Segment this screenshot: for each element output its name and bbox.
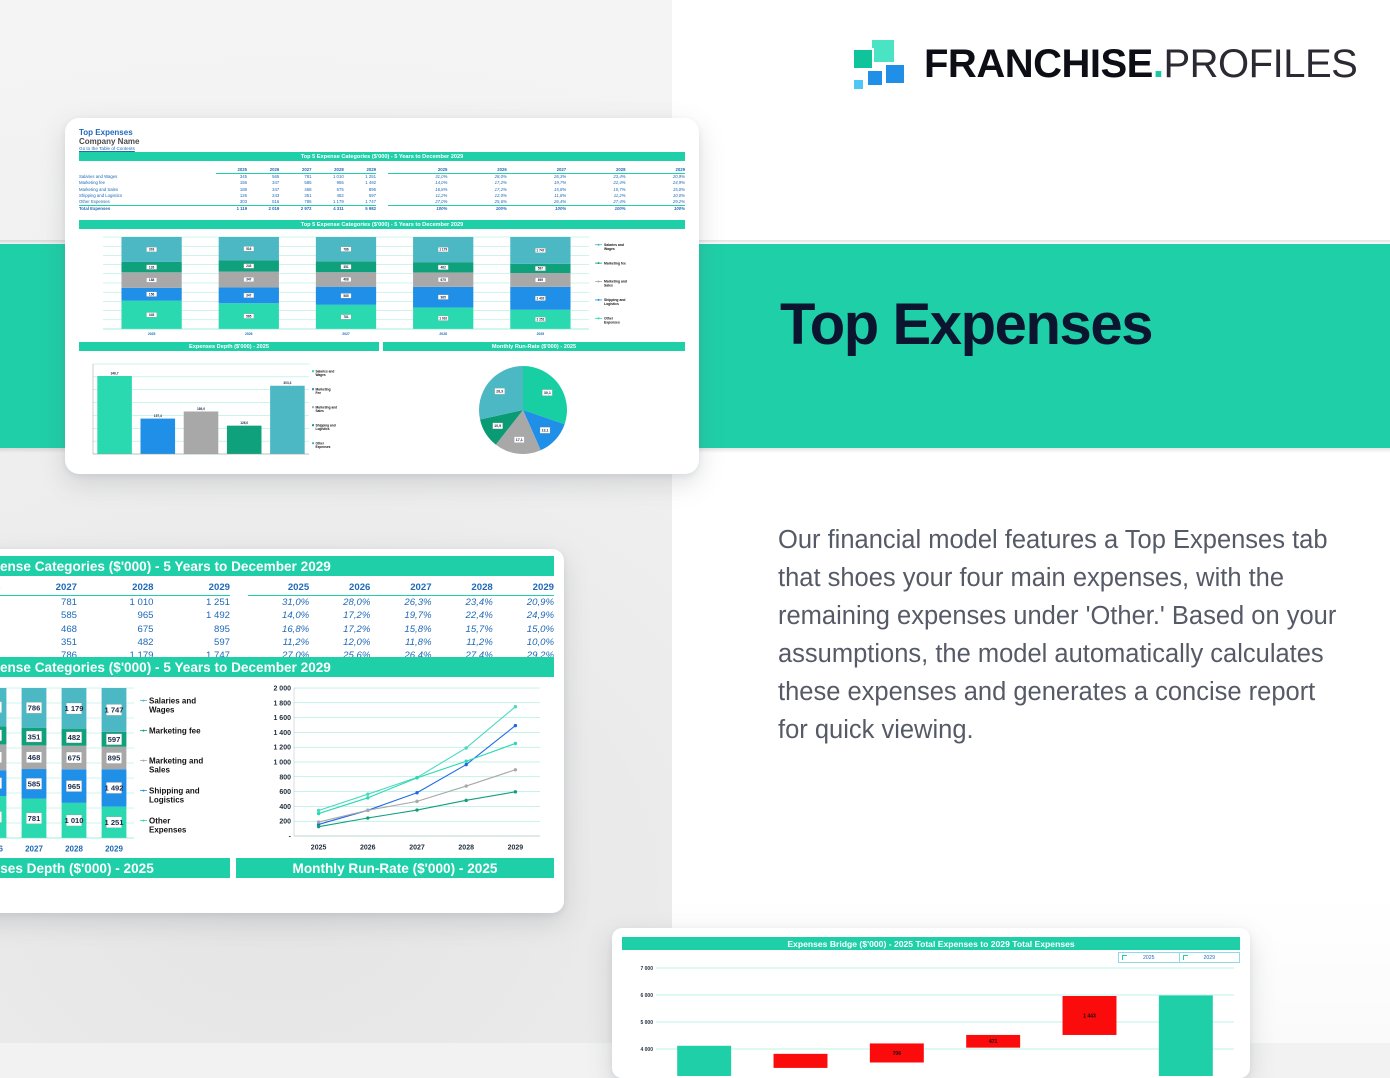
- svg-text:7 000: 7 000: [640, 966, 653, 972]
- svg-text:303,3: 303,3: [283, 381, 291, 385]
- svg-text:Wages: Wages: [316, 373, 326, 377]
- cell: 482: [77, 636, 154, 649]
- column-header: 2027: [370, 581, 431, 596]
- svg-text:1 600: 1 600: [273, 715, 291, 722]
- cell: 351: [1, 636, 78, 649]
- cell: 345: [216, 173, 247, 180]
- svg-text:188: 188: [149, 278, 155, 282]
- column-header: 2028: [77, 581, 154, 596]
- cell: 1 010: [312, 173, 344, 180]
- legend-item[interactable]: 2029: [1180, 953, 1240, 962]
- cell: 100%: [447, 205, 506, 212]
- svg-text:28,3: 28,3: [496, 390, 503, 394]
- svg-text:5 000: 5 000: [640, 1020, 653, 1026]
- table-row: 31,0%28,0%26,3%23,4%20,9%: [248, 596, 554, 610]
- card1-tables: 20252026202720282029Salaries and Wages34…: [79, 166, 685, 212]
- svg-text:2025: 2025: [148, 332, 156, 336]
- legend-item[interactable]: 2025: [1119, 953, 1180, 962]
- svg-text:30,1: 30,1: [544, 391, 551, 395]
- cell: 25,6%: [447, 198, 506, 205]
- table-row: 5657811 0101 251: [0, 596, 230, 610]
- cell: 1 119: [216, 205, 247, 212]
- cell: 19,7%: [370, 609, 431, 622]
- svg-text:706: 706: [893, 1051, 902, 1057]
- svg-text:Fee: Fee: [316, 391, 322, 395]
- column-header: 2027: [507, 166, 566, 173]
- cell: 597: [154, 636, 231, 649]
- column-header: 2028: [566, 166, 625, 173]
- cell: 100%: [388, 205, 447, 212]
- column-header: 2027: [1, 581, 78, 596]
- card1-stacked-bar-chart: 3451561881263032025565347347243516202678…: [79, 231, 685, 341]
- svg-text:-: -: [289, 833, 292, 840]
- svg-text:2026: 2026: [360, 844, 376, 851]
- svg-text:468: 468: [343, 278, 349, 282]
- cell: 965: [77, 609, 154, 622]
- svg-text:471: 471: [989, 1039, 998, 1045]
- brand-wordmark: FRANCHISE.PROFILES: [924, 44, 1357, 84]
- svg-text:351: 351: [343, 265, 349, 269]
- svg-text:2029: 2029: [508, 844, 524, 851]
- cell: 15,7%: [432, 622, 493, 635]
- svg-text:Marketing fee: Marketing fee: [604, 261, 626, 265]
- table-percent: 2025202620272028202931,0%28,0%26,3%23,4%…: [388, 166, 685, 212]
- card1-table-values: 20252026202720282029Salaries and Wages34…: [79, 166, 376, 212]
- cell: 2 972: [279, 205, 311, 212]
- svg-text:Sales: Sales: [604, 284, 613, 288]
- svg-text:157,4: 157,4: [154, 414, 162, 418]
- logo-text-dot: .: [1153, 42, 1164, 86]
- card2-table-percent: 2025202620272028202931,0%28,0%26,3%23,4%…: [248, 581, 554, 655]
- table-total-row: 100%100%100%100%100%: [388, 205, 685, 212]
- row-label: Total Expenses: [79, 205, 216, 212]
- table-row: 243351482597: [0, 636, 230, 649]
- svg-text:1 010: 1 010: [439, 316, 447, 320]
- svg-text:2029: 2029: [537, 332, 545, 336]
- cell: 1 492: [154, 609, 231, 622]
- svg-text:786: 786: [343, 247, 349, 251]
- svg-text:1 251: 1 251: [536, 318, 544, 322]
- cell: 31,0%: [248, 596, 309, 610]
- cell: 516: [247, 198, 279, 205]
- card2-charts: 3451561881263032025565347347243516202678…: [0, 682, 554, 854]
- cell: 26,3%: [370, 596, 431, 610]
- cell: 10,0%: [493, 636, 554, 649]
- cell: 14,0%: [248, 609, 309, 622]
- cell: 1 251: [154, 596, 231, 610]
- row-label: Other Expenses: [79, 198, 216, 205]
- cell: 23,4%: [432, 596, 493, 610]
- svg-text:126: 126: [149, 265, 155, 269]
- cell: 17,2%: [309, 622, 370, 635]
- card3-band-title: Expenses Bridge ($'000) - 2025 Total Exp…: [622, 937, 1240, 950]
- column-header: 2029: [154, 581, 231, 596]
- card3-legend[interactable]: 20252029: [1118, 952, 1240, 963]
- card1-tab-title: Top Expenses: [79, 128, 685, 137]
- cell: 31,0%: [388, 173, 447, 180]
- svg-text:156: 156: [149, 292, 155, 296]
- cell: 100%: [626, 205, 685, 212]
- column-header: 2025: [388, 166, 447, 173]
- card1-band-categories: Top 5 Expense Categories ($'000) - 5 Yea…: [79, 152, 685, 161]
- cell: 781: [1, 596, 78, 610]
- cell: 11,8%: [370, 636, 431, 649]
- svg-text:597: 597: [538, 267, 544, 271]
- svg-text:585: 585: [343, 294, 349, 298]
- card1-band-runrate: Monthly Run-Rate ($'000) - 2025: [383, 342, 685, 351]
- card1-company-name: Company Name: [79, 137, 685, 146]
- table-row: Other Expenses3035167861 1791 747: [79, 198, 376, 205]
- svg-text:17,1: 17,1: [516, 438, 523, 442]
- card3-waterfall-chart: 4 0005 0006 0007 0007064711 443: [622, 964, 1240, 1076]
- cell: 100%: [566, 205, 625, 212]
- svg-text:2028: 2028: [439, 332, 447, 336]
- card2-band-categories: Top 5 Expense Categories ($'000) - 5 Yea…: [0, 556, 554, 576]
- svg-text:4 000: 4 000: [640, 1047, 653, 1053]
- svg-text:347: 347: [246, 293, 252, 297]
- svg-text:189,0: 189,0: [197, 407, 205, 411]
- svg-text:1 747: 1 747: [536, 249, 544, 253]
- svg-text:6 000: 6 000: [640, 993, 653, 999]
- card2-band-runrate: Monthly Run-Rate ($'000) - 2025: [236, 858, 554, 878]
- svg-text:2026: 2026: [245, 332, 253, 336]
- svg-text:781: 781: [343, 315, 349, 319]
- cell: 23,4%: [566, 173, 625, 180]
- svg-text:482: 482: [441, 265, 447, 269]
- svg-text:565: 565: [246, 314, 252, 318]
- cell: 1 251: [344, 173, 376, 180]
- cell: 468: [1, 622, 78, 635]
- cell: 5 982: [344, 205, 376, 212]
- cell: 4 311: [312, 205, 344, 212]
- table-row: 31,0%28,0%26,3%23,4%20,9%: [388, 173, 685, 180]
- svg-text:2027: 2027: [342, 332, 350, 336]
- card1-table-percent: 2025202620272028202931,0%28,0%26,3%23,4%…: [388, 166, 685, 212]
- cell: 28,0%: [447, 173, 506, 180]
- body-paragraph: Our financial model features a Top Expen…: [778, 521, 1344, 749]
- cell: 895: [154, 622, 231, 635]
- svg-text:243: 243: [246, 264, 252, 268]
- column-header: 2029: [626, 166, 685, 173]
- cell: 786: [279, 198, 311, 205]
- cell: 27,4%: [566, 198, 625, 205]
- svg-text:Sales: Sales: [316, 409, 325, 413]
- svg-text:1 400: 1 400: [273, 730, 291, 737]
- svg-text:800: 800: [279, 774, 291, 781]
- svg-text:Expenses: Expenses: [604, 320, 620, 324]
- column-header: 2025: [216, 166, 247, 173]
- svg-text:600: 600: [279, 789, 291, 796]
- table-row: 3475859651 492: [0, 609, 230, 622]
- column-header: 2025: [248, 581, 309, 596]
- cell: 2 019: [247, 205, 279, 212]
- svg-text:1 200: 1 200: [273, 745, 291, 752]
- cell: 28,0%: [309, 596, 370, 610]
- cell: 100%: [507, 205, 566, 212]
- logo-text-bold: FRANCHISE: [924, 42, 1153, 86]
- svg-text:2027: 2027: [409, 844, 425, 851]
- cell: 675: [77, 622, 154, 635]
- svg-text:675: 675: [441, 278, 447, 282]
- table-total-row: Total Expenses1 1192 0192 9724 3115 982: [79, 205, 376, 212]
- cell: 22,4%: [432, 609, 493, 622]
- svg-text:895: 895: [538, 278, 544, 282]
- column-header: 2026: [309, 581, 370, 596]
- cell: 565: [247, 173, 279, 180]
- svg-text:200: 200: [279, 819, 291, 826]
- svg-text:2025: 2025: [311, 844, 327, 851]
- column-header: 2028: [312, 166, 344, 173]
- card1-band-chart: Top 5 Expense Categories ($'000) - 5 Yea…: [79, 220, 685, 229]
- cell: 347: [0, 609, 1, 622]
- svg-text:1 800: 1 800: [273, 700, 291, 707]
- svg-text:1 179: 1 179: [439, 248, 447, 252]
- column-header: 2027: [279, 166, 311, 173]
- table-row: 11,2%12,0%11,8%11,2%10,0%: [248, 636, 554, 649]
- table-row: 16,8%17,2%15,8%15,7%15,0%: [248, 622, 554, 635]
- cell: 17,2%: [309, 609, 370, 622]
- brand-logo: FRANCHISE.PROFILES: [852, 36, 1357, 92]
- cell: 1 179: [312, 198, 344, 205]
- svg-text:1 492: 1 492: [536, 296, 544, 300]
- svg-text:126,0: 126,0: [240, 421, 248, 425]
- svg-text:965: 965: [441, 295, 447, 299]
- cell: 26,3%: [507, 173, 566, 180]
- cell: 585: [1, 609, 78, 622]
- cell: 347: [0, 622, 1, 635]
- svg-text:346,7: 346,7: [111, 371, 119, 375]
- table-row: 347468675895: [0, 622, 230, 635]
- svg-text:Logistics: Logistics: [316, 427, 330, 431]
- screenshot-card-bottom-left[interactable]: Top 5 Expense Categories ($'000) - 5 Yea…: [0, 549, 564, 913]
- column-header: 2026: [247, 166, 279, 173]
- cell: 16,8%: [248, 622, 309, 635]
- svg-text:516: 516: [246, 247, 252, 251]
- cell: 781: [279, 173, 311, 180]
- cell: 1 010: [77, 596, 154, 610]
- row-label: Salaries and Wages: [79, 173, 216, 180]
- cell: 24,9%: [493, 609, 554, 622]
- svg-text:13,1: 13,1: [542, 429, 549, 433]
- cell: 11,2%: [432, 636, 493, 649]
- table-row: Salaries and Wages3455657811 0101 251: [79, 173, 376, 180]
- cell: 15,0%: [493, 622, 554, 635]
- cell: 1 747: [344, 198, 376, 205]
- svg-text:400: 400: [279, 804, 291, 811]
- column-header: 2029: [493, 581, 554, 596]
- svg-text:1 000: 1 000: [273, 759, 291, 766]
- card2-table-values: 20262027202820295657811 0101 25134758596…: [0, 581, 230, 655]
- svg-text:10,9: 10,9: [494, 424, 501, 428]
- card1-toc-link[interactable]: Go to the Table of Contents: [79, 146, 685, 151]
- card2-band-depth: ses Depth ($'000) - 2025: [0, 858, 230, 878]
- svg-text:Wages: Wages: [604, 247, 615, 251]
- cell: 20,9%: [626, 173, 685, 180]
- svg-text:2028: 2028: [458, 844, 474, 851]
- svg-text:347: 347: [246, 278, 252, 282]
- svg-text:1 443: 1 443: [1083, 1013, 1096, 1019]
- table-row: 27,0%25,6%26,4%27,4%29,2%: [388, 198, 685, 205]
- card1-band-depth: Expenses Depth ($'000) - 2025: [79, 342, 379, 351]
- table-values: 20252026202720282029Salaries and Wages34…: [79, 166, 376, 212]
- cell: 565: [0, 596, 1, 610]
- screenshot-card-bottom-right[interactable]: Expenses Bridge ($'000) - 2025 Total Exp…: [612, 928, 1250, 1078]
- cell: 27,0%: [388, 198, 447, 205]
- svg-text:303: 303: [149, 248, 155, 252]
- logo-text-thin: PROFILES: [1163, 42, 1357, 86]
- card2-band-chart: Top 5 Expense Categories ($'000) - 5 Yea…: [0, 657, 554, 677]
- screenshot-card-top-left[interactable]: Top Expenses Company Name Go to the Tabl…: [65, 118, 699, 474]
- cell: 20,9%: [493, 596, 554, 610]
- cell: 29,2%: [626, 198, 685, 205]
- svg-text:Expenses: Expenses: [316, 445, 331, 449]
- cell: 243: [0, 636, 1, 649]
- column-header: 2028: [432, 581, 493, 596]
- cell: 12,0%: [309, 636, 370, 649]
- svg-text:2 000: 2 000: [273, 685, 291, 692]
- card1-content: Top Expenses Company Name Go to the Tabl…: [65, 118, 699, 474]
- svg-text:345: 345: [149, 313, 155, 317]
- column-header: 2026: [447, 166, 506, 173]
- cell: 26,4%: [507, 198, 566, 205]
- page-title: Top Expenses: [780, 296, 1152, 354]
- cell: 15,8%: [370, 622, 431, 635]
- cell: 11,2%: [248, 636, 309, 649]
- svg-text:Logistics: Logistics: [604, 302, 619, 306]
- cell: 303: [216, 198, 247, 205]
- card1-depth-bar-chart: 346,7157,4189,0126,0303,3Salaries andWag…: [79, 354, 379, 464]
- card1-pie-chart: 30,113,117,110,928,3: [383, 354, 685, 464]
- column-header: 2029: [344, 166, 376, 173]
- table-row: 14,0%17,2%19,7%22,4%24,9%: [248, 609, 554, 622]
- card2-tables: 20262027202820295657811 0101 25134758596…: [0, 581, 554, 655]
- five-squares-logo-icon: [852, 36, 908, 92]
